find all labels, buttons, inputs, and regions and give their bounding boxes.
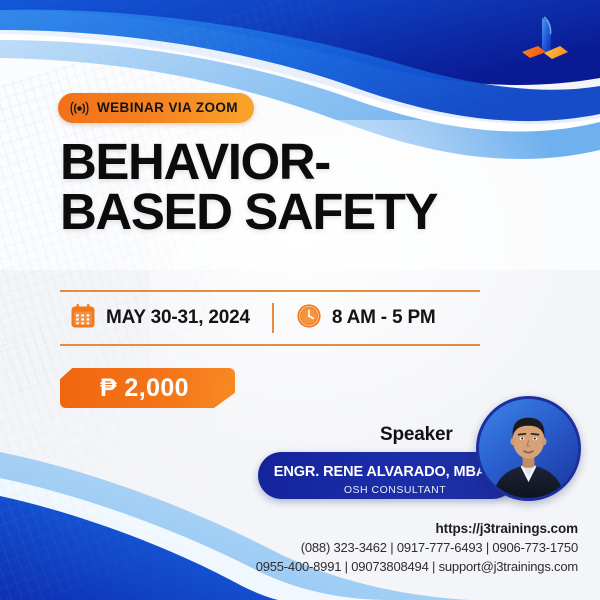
page-title: BEHAVIOR- BASED SAFETY (60, 137, 540, 238)
schedule-time-text: 8 AM - 5 PM (332, 307, 436, 329)
speaker-label: Speaker (380, 424, 453, 446)
schedule-date: MAY 30-31, 2024 (60, 303, 250, 334)
title-line-2: BASED SAFETY (60, 187, 540, 237)
schedule-date-text: MAY 30-31, 2024 (106, 307, 250, 329)
calendar-icon (70, 303, 96, 334)
clock-icon (296, 303, 322, 334)
website-url[interactable]: https://j3trainings.com (158, 519, 578, 539)
price-amount: ₱ 2,000 (100, 376, 195, 401)
speaker-name: ENGR. RENE ALVARADO, MBA (265, 464, 495, 480)
schedule-strip: MAY 30-31, 2024 8 AM - 5 PM (60, 290, 480, 346)
j3-trainings-logo (516, 12, 572, 68)
schedule-time: 8 AM - 5 PM (274, 303, 436, 334)
webinar-poster: WEBINAR VIA ZOOM BEHAVIOR- BASED SAFETY (0, 0, 600, 600)
contact-line-2: 0955-400-8991 | 09073808494 | support@j3… (158, 558, 578, 577)
price-badge: ₱ 2,000 (60, 368, 235, 408)
speaker-portrait (476, 396, 581, 501)
webinar-badge-label: WEBINAR VIA ZOOM (97, 101, 238, 115)
title-line-1: BEHAVIOR- (60, 137, 540, 187)
contact-block: https://j3trainings.com (088) 323-3462 |… (158, 519, 578, 577)
speaker-role: OSH CONSULTANT (300, 484, 490, 496)
broadcast-waves-icon (70, 101, 89, 116)
webinar-badge[interactable]: WEBINAR VIA ZOOM (58, 93, 254, 123)
contact-line-1: (088) 323-3462 | 0917-777-6493 | 0906-77… (158, 539, 578, 558)
